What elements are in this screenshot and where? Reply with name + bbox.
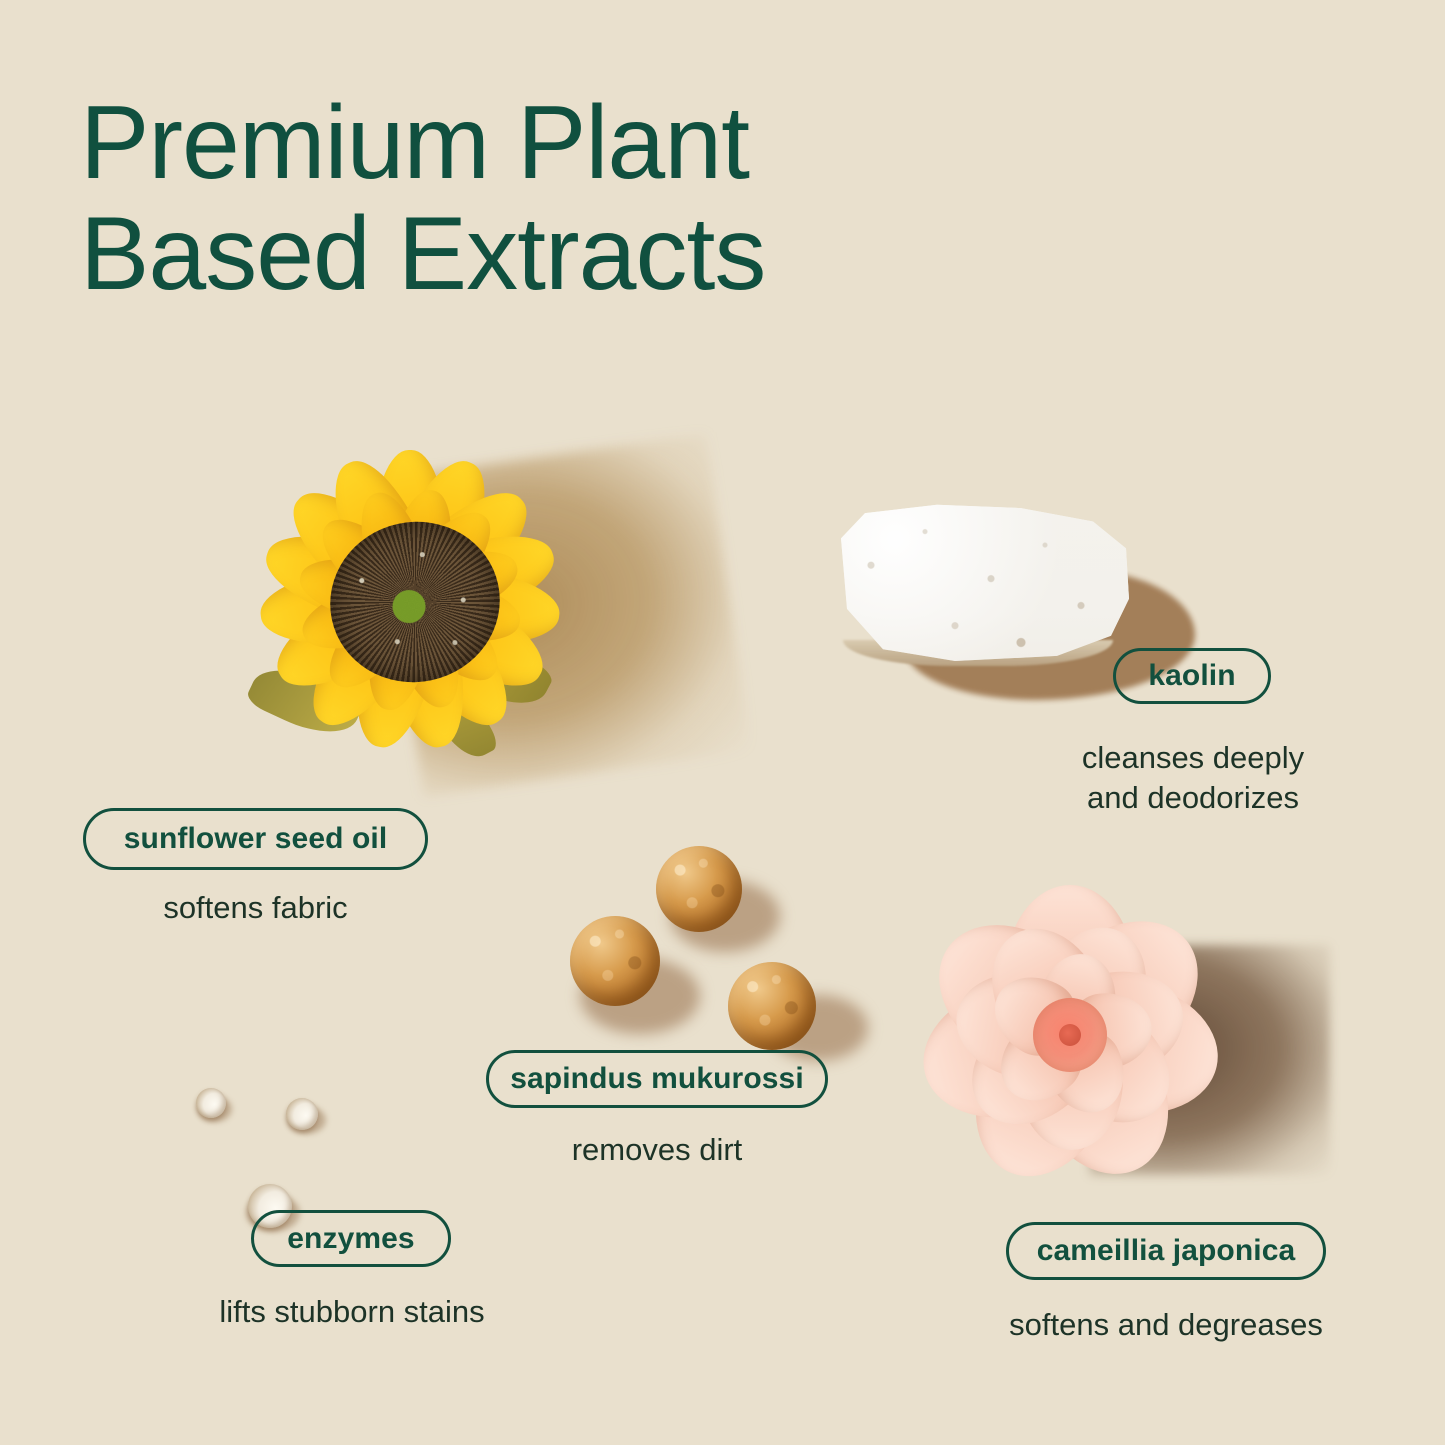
kaolin-rock: [835, 498, 1135, 666]
caption-enzymes: lifts stubborn stains: [188, 1292, 516, 1332]
pill-enzymes[interactable]: enzymes: [251, 1210, 451, 1267]
camellia-petals: [915, 885, 1225, 1185]
ingredient-infographic: Premium Plant Based Extracts: [0, 0, 1445, 1445]
caption-sapindus-mukurossi: removes dirt: [486, 1130, 828, 1170]
enzyme-granule: [286, 1098, 318, 1130]
pill-sunflower-seed-oil[interactable]: sunflower seed oil: [83, 808, 428, 870]
pill-sapindus-mukurossi[interactable]: sapindus mukurossi: [486, 1050, 828, 1108]
pill-kaolin[interactable]: kaolin: [1113, 648, 1271, 704]
caption-sunflower-seed-oil: softens fabric: [83, 888, 428, 928]
pill-cameillia-japonica[interactable]: cameillia japonica: [1006, 1222, 1326, 1280]
soap-nuts-photo: [560, 840, 860, 1055]
camellia-flower-photo: [905, 875, 1325, 1225]
caption-kaolin: cleanses deeply and deodorizes: [1028, 738, 1358, 817]
sunflower-photo: [190, 395, 660, 835]
soap-nut: [570, 916, 660, 1006]
page-title: Premium Plant Based Extracts: [80, 88, 980, 311]
camellia-center: [1033, 998, 1107, 1072]
soap-nut: [656, 846, 742, 932]
sunflower-petals: [230, 420, 590, 780]
enzyme-granule: [196, 1088, 226, 1118]
soap-nut: [728, 962, 816, 1050]
caption-cameillia-japonica: softens and degreases: [990, 1305, 1342, 1345]
